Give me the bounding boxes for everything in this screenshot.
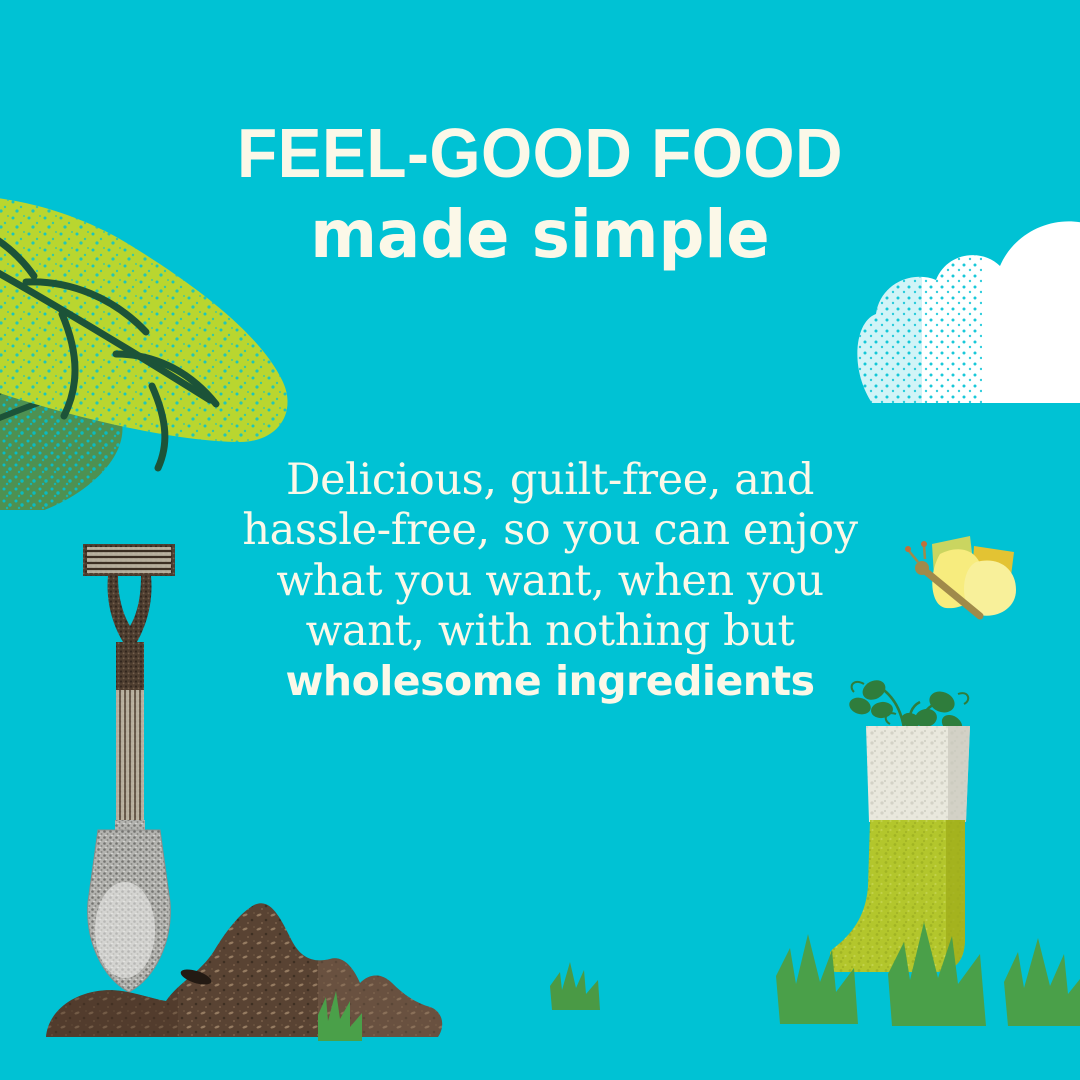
soil-mound — [18, 855, 458, 1055]
grass-tuft-right-a — [772, 928, 872, 1028]
body-line-2: hassle-free, so you can enjoy — [190, 505, 910, 555]
grass-tuft-right-b — [882, 918, 1002, 1030]
body-copy: Delicious, guilt-free, and hassle-free, … — [190, 455, 910, 706]
body-line-1: Delicious, guilt-free, and — [190, 455, 910, 505]
butterfly-antenna-left — [909, 551, 918, 562]
body-line-3: what you want, when you — [190, 556, 910, 606]
body-emphasis: wholesome ingredients — [190, 656, 910, 706]
body-line-4: want, with nothing but — [190, 606, 910, 656]
butterfly-head — [915, 561, 929, 575]
grass-tuft-center — [540, 958, 612, 1014]
shovel-neck — [116, 642, 144, 694]
poster-canvas: FEEL-GOOD FOOD made simple Delicious, gu… — [0, 0, 1080, 1080]
shovel-crossbar — [87, 547, 171, 573]
cloud — [852, 218, 1080, 423]
butterfly — [898, 518, 1033, 638]
boot-cuff — [860, 720, 982, 830]
shovel-shaft — [116, 690, 144, 838]
butterfly-antenna-right — [924, 546, 925, 559]
grass-tuft-right-c — [1002, 930, 1080, 1030]
